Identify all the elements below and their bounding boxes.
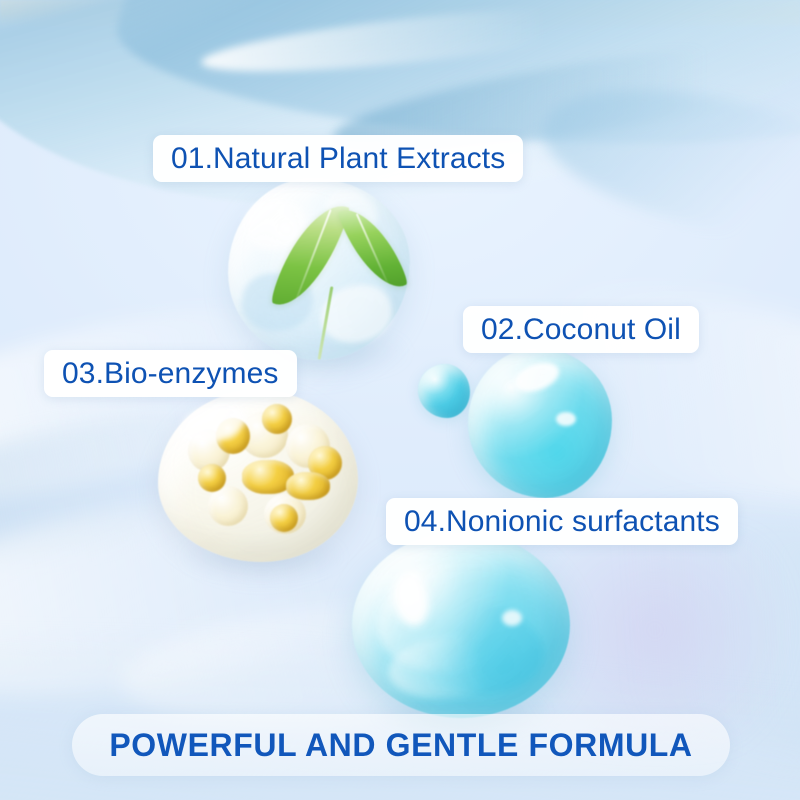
cyan-bead-visual	[468, 348, 612, 498]
ingredient-label-text: 04.Nonionic surfactants	[404, 505, 720, 539]
product-ingredient-poster: 01.Natural Plant Extracts 02.Coconut Oil…	[0, 0, 800, 800]
enzyme-bead	[208, 486, 248, 526]
crystal-pod-visual	[228, 178, 410, 360]
enzyme-bead	[286, 472, 330, 500]
bead-highlight	[511, 357, 563, 397]
enzyme-bead	[198, 464, 226, 492]
ingredient-label-04: 04.Nonionic surfactants	[386, 498, 738, 545]
ingredient-label-01: 01.Natural Plant Extracts	[153, 135, 523, 182]
amber-pod-visual	[158, 390, 358, 562]
sphere-highlight	[502, 610, 522, 626]
headline-banner-text: POWERFUL AND GENTLE FORMULA	[109, 727, 692, 764]
ingredient-label-text: 02.Coconut Oil	[481, 313, 681, 347]
cyan-bead-small-visual	[418, 364, 470, 418]
silk-fold-right	[529, 57, 800, 263]
blue-gel-sphere-visual	[352, 532, 570, 718]
headline-banner: POWERFUL AND GENTLE FORMULA	[72, 714, 730, 776]
enzyme-bead	[262, 404, 292, 434]
ingredient-label-text: 01.Natural Plant Extracts	[171, 142, 505, 176]
ingredient-label-02: 02.Coconut Oil	[463, 306, 699, 353]
ingredient-label-text: 03.Bio-enzymes	[62, 357, 279, 391]
cream-top-strip	[0, 0, 800, 26]
enzyme-bead	[270, 504, 298, 532]
leaf-vein	[356, 213, 389, 284]
silk-fabric-top	[0, 0, 800, 227]
ingredient-label-03: 03.Bio-enzymes	[44, 350, 297, 397]
bead-highlight	[556, 412, 576, 426]
